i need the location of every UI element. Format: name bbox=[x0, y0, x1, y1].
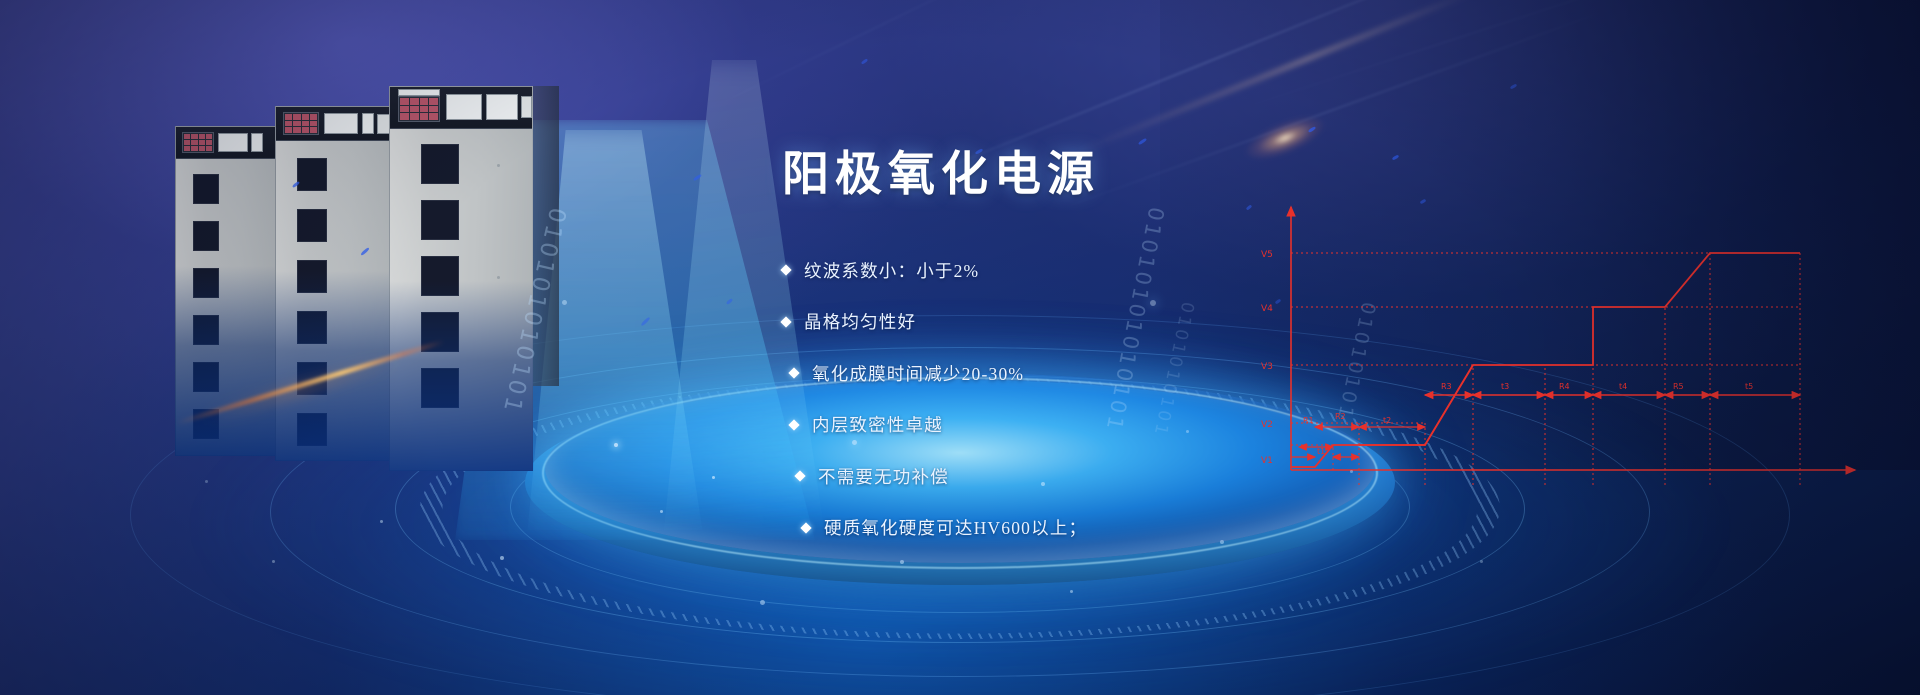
chart-hold-label: t4 bbox=[1619, 382, 1627, 391]
feature-text: 晶格均匀性好 bbox=[804, 309, 916, 334]
feature-text: 不需要无功补偿 bbox=[818, 464, 949, 489]
diamond-bullet-icon bbox=[780, 265, 791, 276]
cabinet-vent bbox=[297, 158, 327, 191]
cabinet-display bbox=[362, 113, 374, 134]
feature-text: 硬质氧化硬度可达HV600以上； bbox=[824, 515, 1087, 540]
diamond-bullet-icon bbox=[788, 368, 799, 379]
feature-text: 内层致密性卓越 bbox=[812, 412, 943, 437]
cabinet-keypad bbox=[398, 96, 440, 122]
power-cabinet-middle bbox=[275, 106, 395, 461]
cabinet-vent bbox=[193, 221, 219, 251]
cabinet-fastener bbox=[497, 276, 500, 279]
cabinet-switch[interactable] bbox=[521, 96, 532, 118]
diamond-bullet-icon bbox=[788, 419, 799, 430]
cabinet-vent bbox=[297, 209, 327, 242]
feature-text: 纹波系数小：小于2% bbox=[804, 258, 979, 283]
feature-text: 氧化成膜时间减少20-30% bbox=[812, 361, 1024, 386]
cabinet-control-panel bbox=[276, 107, 394, 141]
diamond-bullet-icon bbox=[800, 522, 811, 533]
cabinet-display bbox=[446, 94, 482, 120]
cabinet-display bbox=[486, 94, 518, 120]
list-item: 内层致密性卓越 bbox=[790, 412, 1422, 437]
list-item: 不需要无功补偿 bbox=[796, 464, 1422, 489]
cabinet-vent bbox=[193, 174, 219, 204]
cabinet-vent bbox=[421, 200, 459, 240]
cabinet-vent bbox=[421, 144, 459, 184]
cabinet-display bbox=[218, 133, 248, 152]
chart-ramp-label: R5 bbox=[1673, 382, 1684, 391]
cabinet-keypad bbox=[182, 132, 214, 153]
list-item: 硬质氧化硬度可达HV600以上； bbox=[802, 515, 1422, 540]
cabinet-display bbox=[324, 113, 358, 134]
cabinet-control-panel bbox=[176, 127, 280, 159]
cabinet-fastener bbox=[497, 164, 500, 167]
chart-hold-label: t5 bbox=[1745, 382, 1753, 391]
list-item: 氧化成膜时间减少20-30% bbox=[790, 361, 1422, 386]
cabinet-fade bbox=[175, 266, 281, 456]
chart-hold-label: t3 bbox=[1501, 382, 1509, 391]
chart-ramp-label: R3 bbox=[1441, 382, 1452, 391]
cabinet-display bbox=[251, 133, 263, 152]
feature-list: 纹波系数小：小于2% 晶格均匀性好 氧化成膜时间减少20-30% 内层致密性卓越… bbox=[782, 258, 1422, 541]
power-cabinet-group bbox=[205, 86, 625, 526]
banner-content: 阳极氧化电源 纹波系数小：小于2% 晶格均匀性好 氧化成膜时间减少20-30% … bbox=[782, 150, 1422, 567]
diamond-bullet-icon bbox=[780, 316, 791, 327]
cabinet-control-panel bbox=[390, 87, 532, 129]
anodizing-power-supply-banner: 010101010101 01010101010101 01010101 010… bbox=[0, 0, 1920, 695]
list-item: 纹波系数小：小于2% bbox=[782, 258, 1422, 283]
chart-ramp-label: R4 bbox=[1559, 382, 1570, 391]
page-title: 阳极氧化电源 bbox=[782, 150, 1422, 202]
list-item: 晶格均匀性好 bbox=[782, 309, 1422, 334]
diamond-bullet-icon bbox=[794, 471, 805, 482]
cabinet-display bbox=[398, 89, 440, 96]
cabinet-keypad bbox=[283, 112, 319, 135]
